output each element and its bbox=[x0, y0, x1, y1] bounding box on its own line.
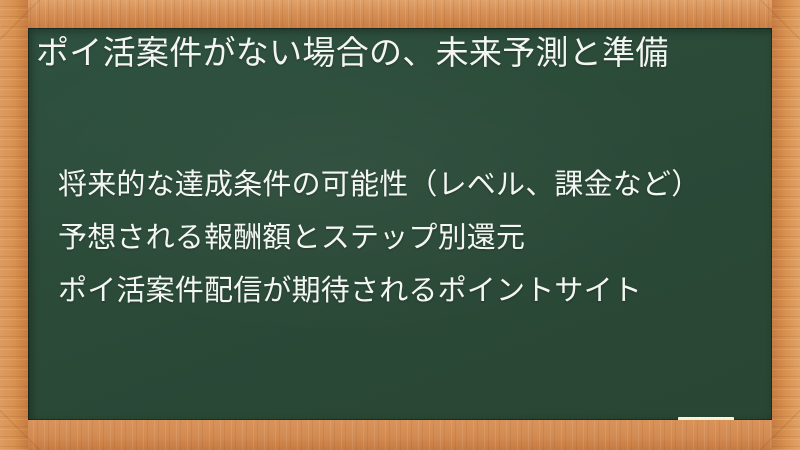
slide-bullet-list: 将来的な達成条件の可能性（レベル、課金など） 予想される報酬額とステップ別還元 … bbox=[58, 158, 748, 317]
chalkboard-content: ポイ活案件がない場合の、未来予測と準備 将来的な達成条件の可能性（レベル、課金な… bbox=[28, 28, 772, 420]
list-item: ポイ活案件配信が期待されるポイントサイト bbox=[58, 264, 748, 317]
frame-plank-bottom bbox=[0, 420, 800, 450]
frame-plank-right bbox=[772, 0, 800, 450]
chalkboard-surface: ポイ活案件がない場合の、未来予測と準備 将来的な達成条件の可能性（レベル、課金な… bbox=[28, 28, 772, 420]
slide-title: ポイ活案件がない場合の、未来予測と準備 bbox=[36, 30, 742, 76]
chalk-stick-icon bbox=[678, 417, 734, 420]
frame-plank-left bbox=[0, 0, 28, 450]
list-item: 将来的な達成条件の可能性（レベル、課金など） bbox=[58, 158, 748, 211]
chalkboard-slide: ポイ活案件がない場合の、未来予測と準備 将来的な達成条件の可能性（レベル、課金な… bbox=[0, 0, 800, 450]
frame-plank-top bbox=[0, 0, 800, 28]
list-item: 予想される報酬額とステップ別還元 bbox=[58, 211, 748, 264]
